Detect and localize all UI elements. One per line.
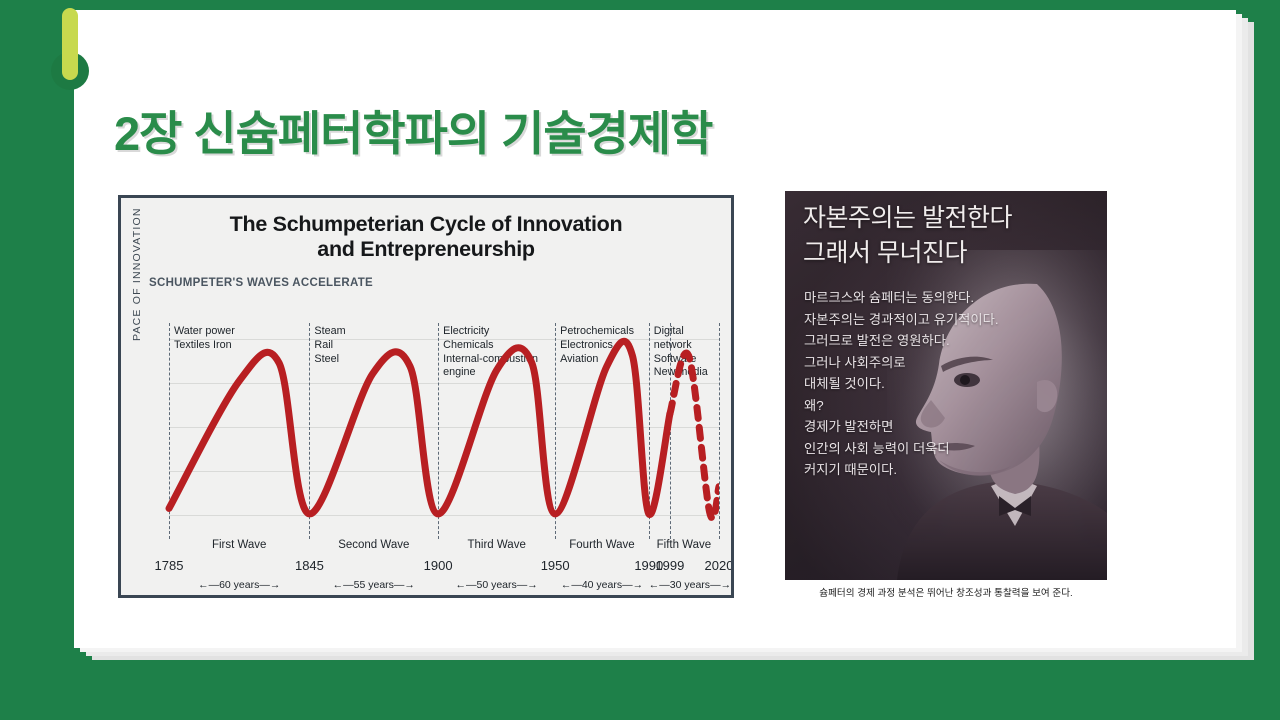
year-tick-label: 1950	[541, 558, 570, 573]
chart-title-line-1: The Schumpeterian Cycle of Innovation	[121, 212, 731, 237]
wave-name-label: Fourth Wave	[569, 539, 634, 551]
duration-text: 40 years	[582, 579, 622, 591]
book-body-line: 마르크스와 슘페터는 동의한다.	[804, 287, 999, 309]
innovation-cycle-chart: The Schumpeterian Cycle of Innovation an…	[118, 195, 734, 598]
duration-span: ←—40 years—→	[555, 579, 649, 591]
wave-duration-labels: ←—60 years—→←—55 years—→←—50 years—→←—40…	[147, 579, 719, 595]
book-body-line: 대체될 것이다.	[804, 373, 999, 395]
duration-span: ←—30 years—→	[649, 579, 719, 591]
duration-span: ←—50 years—→	[438, 579, 555, 591]
book-body-line: 인간의 사회 능력이 더욱더	[804, 438, 999, 460]
chart-plot-area: PACE OF INNOVATION Water powerTextiles I…	[147, 323, 719, 539]
year-tick-label: 1845	[295, 558, 324, 573]
pin-marker	[45, 0, 95, 96]
y-axis-label: PACE OF INNOVATION	[131, 195, 145, 341]
book-body-line: 경제가 발전하면	[804, 416, 999, 438]
book-headline: 자본주의는 발전한다 그래서 무너진다	[803, 201, 1012, 270]
chart-subtitle: SCHUMPETER'S WAVES ACCELERATE	[149, 277, 731, 289]
book-body-text: 마르크스와 슘페터는 동의한다.자본주의는 경과적이고 유기적이다.그러므로 발…	[804, 287, 999, 481]
book-headline-line-1: 자본주의는 발전한다	[803, 201, 1012, 236]
wave-name-label: Second Wave	[338, 539, 409, 551]
duration-text: 60 years	[219, 579, 259, 591]
wave-name-label: First Wave	[212, 539, 267, 551]
chart-x-axis: First WaveSecond WaveThird WaveFourth Wa…	[147, 539, 719, 597]
year-tick-label: 1900	[424, 558, 453, 573]
chart-title-line-2: and Entrepreneurship	[121, 237, 731, 262]
duration-text: 30 years	[670, 579, 710, 591]
page-title: 2장 신슘페터학파의 기술경제학	[114, 95, 712, 164]
book-cover-image: 자본주의는 발전한다 그래서 무너진다 마르크스와 슘페터는 동의한다.자본주의…	[785, 191, 1107, 580]
book-headline-line-2: 그래서 무너진다	[803, 236, 1012, 271]
duration-text: 55 years	[354, 579, 394, 591]
wave-name-label: Fifth Wave	[657, 539, 712, 551]
book-body-line: 자본주의는 경과적이고 유기적이다.	[804, 309, 999, 331]
duration-span: ←—55 years—→	[309, 579, 438, 591]
year-tick-label: 1999	[655, 558, 684, 573]
duration-text: 50 years	[477, 579, 517, 591]
year-tick-label: 1785	[155, 558, 184, 573]
year-tick-label: 2020	[705, 558, 734, 573]
wave-name-label: Third Wave	[467, 539, 525, 551]
book-body-line: 그러므로 발전은 영원하다.	[804, 330, 999, 352]
chart-title: The Schumpeterian Cycle of Innovation an…	[121, 212, 731, 261]
book-body-line: 커지기 때문이다.	[804, 459, 999, 481]
innovation-wave-curve	[147, 323, 719, 539]
wave-separator	[719, 323, 720, 539]
book-body-line: 그러나 사회주의로	[804, 352, 999, 374]
book-body-line: 왜?	[804, 395, 999, 417]
pin-stem-icon	[62, 8, 78, 80]
duration-span: ←—60 years—→	[169, 579, 309, 591]
book-caption: 슘페터의 경제 과정 분석은 뛰어난 창조성과 통찰력을 보여 준다.	[785, 585, 1107, 599]
